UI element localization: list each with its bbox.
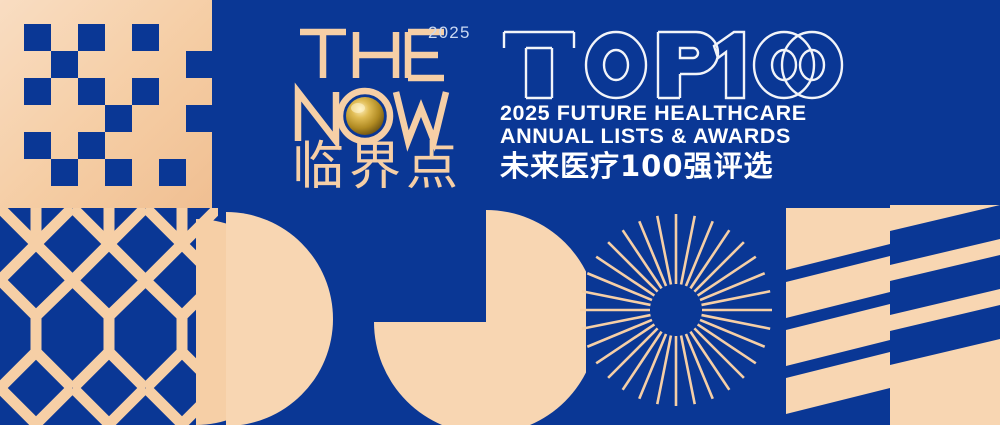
checkerboard-svg [0, 0, 212, 208]
sunburst-ray [582, 291, 651, 305]
checkerboard-cell [51, 51, 78, 78]
checkerboard-cell [132, 24, 159, 51]
half-circle-large [226, 212, 333, 425]
diagonal-stripes-ascending [890, 205, 1000, 425]
checkerboard-cell [105, 105, 132, 132]
sunburst-ray [681, 336, 695, 405]
sunburst-rays [578, 212, 774, 408]
diagonal-stripes-descending [786, 208, 890, 425]
circle-shapes-group [196, 200, 586, 425]
award-lockup: 2025 FUTURE HEALTHCARE ANNUAL LISTS & AW… [500, 22, 845, 192]
brand-svg: 2025 临界点 [288, 16, 488, 196]
checkerboard-cell [78, 78, 105, 105]
checkerboard-cell [51, 159, 78, 186]
brand-chinese-name: 临界点 [292, 137, 463, 196]
brand-the [300, 32, 444, 78]
stripes-left-svg [786, 208, 890, 425]
gold-orb [345, 96, 386, 137]
checkerboard-cell [24, 132, 51, 159]
checkerboard-cell [186, 51, 212, 78]
circles-svg [196, 200, 586, 425]
sunburst-ray [657, 336, 671, 405]
top100-outline [500, 22, 845, 102]
award-subtitle-en-line2: ANNUAL LISTS & AWARDS [500, 125, 845, 148]
sunburst-ray [681, 216, 695, 285]
hex-lattice-svg [0, 208, 218, 425]
checkerboard-cell [132, 78, 159, 105]
stripes-right-svg [890, 205, 1000, 425]
checkerboard-cell [78, 24, 105, 51]
three-quarter-circle [374, 210, 586, 425]
checkerboard-cell [24, 24, 51, 51]
brand-year: 2025 [428, 23, 471, 42]
sunburst-ray [702, 315, 771, 329]
award-subtitle-cn: 未来医疗100强评选 [500, 149, 845, 183]
sunburst-svg [578, 212, 774, 408]
sunburst-ray [702, 291, 771, 305]
sunburst-ray [657, 216, 671, 285]
sunburst-ray [582, 315, 651, 329]
brand-lockup: 2025 临界点 [288, 16, 488, 196]
awards-banner: 2025 临界点 [0, 0, 1000, 425]
award-subtitle-en-line1: 2025 FUTURE HEALTHCARE [500, 102, 845, 125]
hexagon-lattice-pattern [0, 208, 218, 425]
checkerboard-cell [78, 132, 105, 159]
checkerboard-cell [24, 78, 51, 105]
checkerboard-cell [159, 159, 186, 186]
checkerboard-pattern [0, 0, 212, 208]
checkerboard-cell [105, 159, 132, 186]
checkerboard-cell [186, 105, 212, 132]
